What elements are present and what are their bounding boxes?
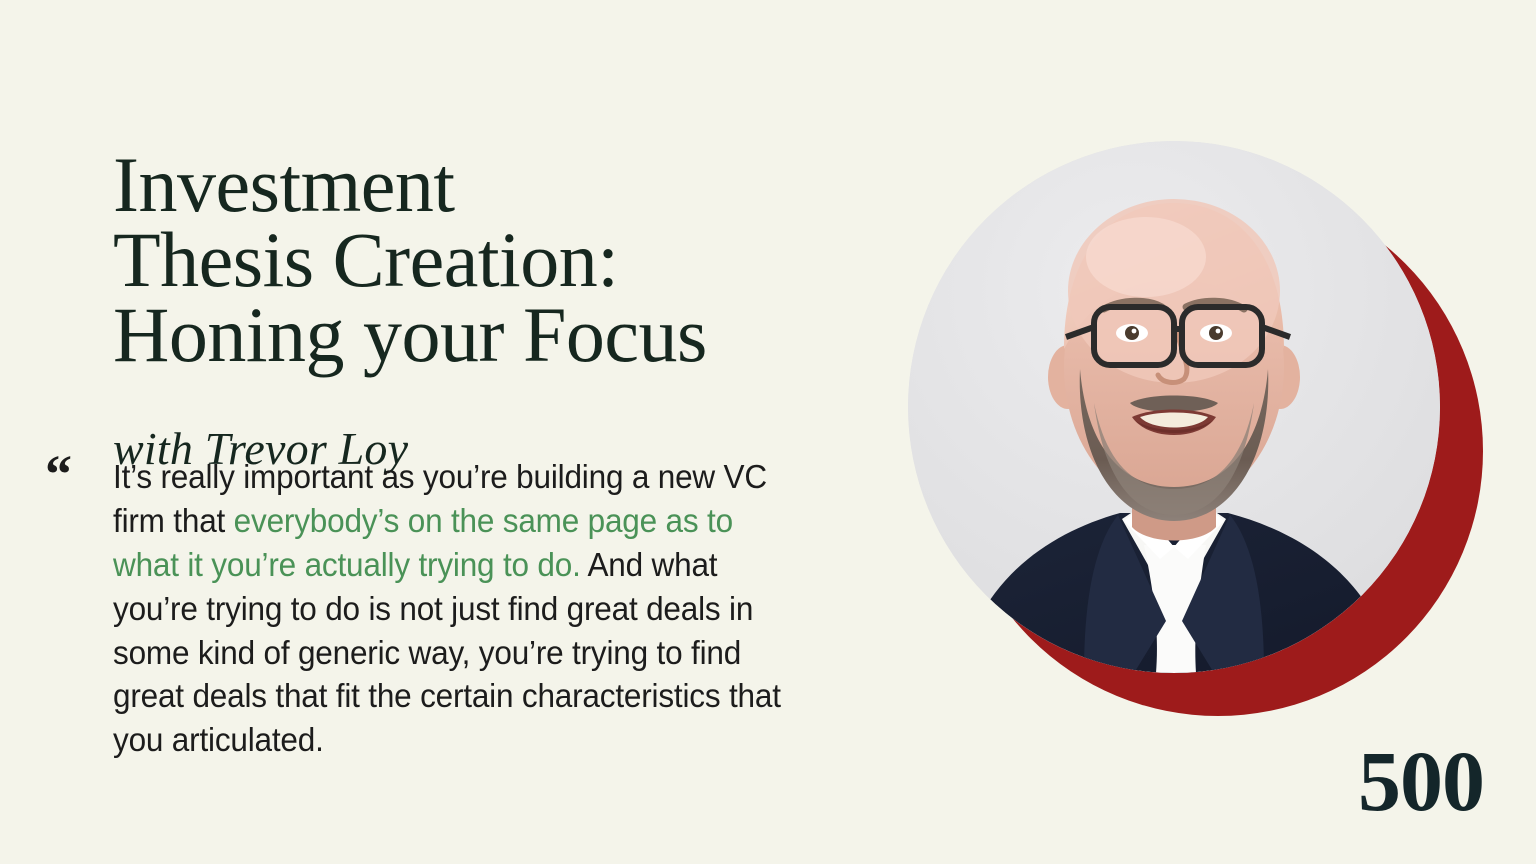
quote-text: It’s really important as you’re building… xyxy=(113,455,791,762)
title-line-2: Thesis Creation: xyxy=(113,223,853,298)
title-line-3: Honing your Focus xyxy=(113,298,853,373)
person-portrait-icon xyxy=(908,141,1440,673)
title-line-1: Investment xyxy=(113,148,853,223)
brand-logo-500: 500 xyxy=(1358,738,1484,824)
quote-block: “ It’s really important as you’re buildi… xyxy=(113,455,823,762)
title-column: Investment Thesis Creation: Honing your … xyxy=(113,96,853,473)
quote-open-icon: “ xyxy=(45,447,72,501)
page-title: Investment Thesis Creation: Honing your … xyxy=(113,148,853,373)
avatar xyxy=(908,141,1440,673)
slide-canvas: Investment Thesis Creation: Honing your … xyxy=(0,0,1536,864)
portrait-zone xyxy=(895,128,1500,743)
